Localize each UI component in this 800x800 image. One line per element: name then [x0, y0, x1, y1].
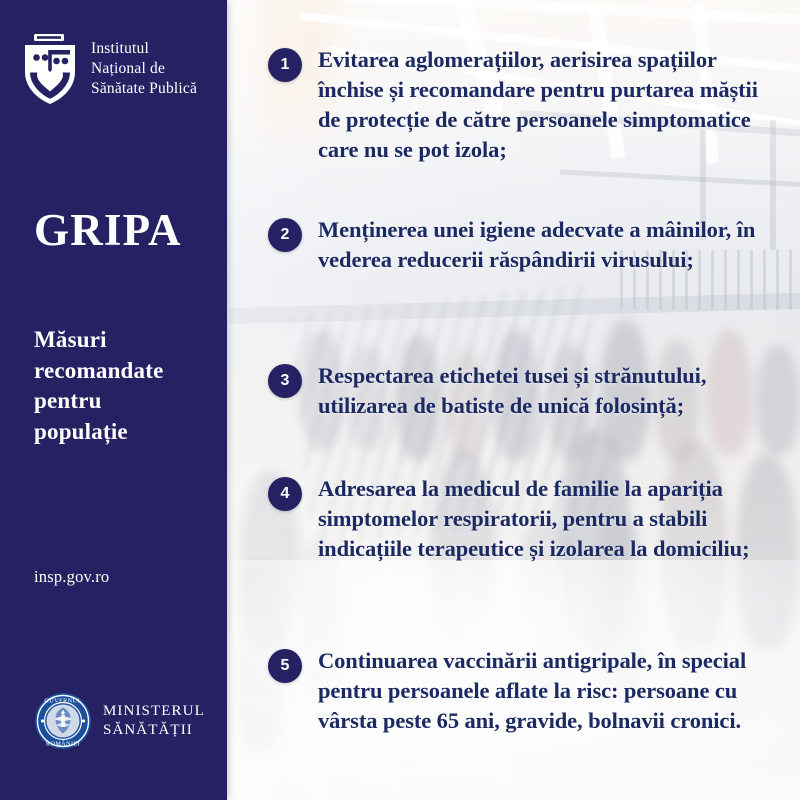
svg-text:GUVERNUL: GUVERNUL — [44, 698, 81, 705]
measure-number-badge: 1 — [268, 48, 302, 82]
measure-item: 2 Menținerea unei igiene adecvate a mâin… — [268, 215, 778, 275]
guvernul-romaniei-seal-icon: GUVERNUL ROMÂNIEI — [34, 692, 92, 750]
subtitle-line-2: recomandate — [34, 358, 164, 383]
measure-item: 5 Continuarea vaccinării antigripale, în… — [268, 646, 778, 736]
measure-number-badge: 5 — [268, 649, 302, 683]
ministry-branding: GUVERNUL ROMÂNIEI MINISTERUL SĂNĂTĂȚII — [34, 692, 205, 750]
ministry-name-line-1: MINISTERUL — [103, 703, 205, 719]
insp-shield-icon — [21, 32, 79, 106]
insp-name-line-1: Institutul — [91, 40, 149, 57]
website-url[interactable]: insp.gov.ro — [34, 567, 109, 587]
subtitle-line-4: populație — [34, 419, 128, 444]
measure-item: 4 Adresarea la medicul de familie la apa… — [268, 474, 778, 564]
measure-text: Adresarea la medicul de familie la apari… — [318, 474, 778, 564]
svg-text:ROMÂNIEI: ROMÂNIEI — [46, 740, 80, 748]
poster: Institutul Național de Sănătate Publică … — [0, 0, 800, 800]
measure-item: 1 Evitarea aglomerațiilor, aerisirea spa… — [268, 45, 778, 165]
measure-number-badge: 2 — [268, 218, 302, 252]
insp-name-line-2: Național de — [91, 60, 165, 77]
measure-number-badge: 4 — [268, 477, 302, 511]
measure-number-badge: 3 — [268, 364, 302, 398]
measure-text: Evitarea aglomerațiilor, aerisirea spați… — [318, 45, 778, 165]
subtitle-line-3: pentru — [34, 388, 102, 413]
page-title: GRIPA — [34, 208, 215, 253]
insp-name-line-3: Sănătate Publică — [91, 80, 197, 97]
page-subtitle: Măsuri recomandate pentru populație — [34, 325, 215, 447]
insp-name: Institutul Național de Sănătate Publică — [91, 39, 197, 98]
measures-list: 1 Evitarea aglomerațiilor, aerisirea spa… — [268, 0, 788, 800]
measure-text: Respectarea etichetei tusei și strănutul… — [318, 361, 778, 421]
subtitle-line-1: Măsuri — [34, 327, 107, 352]
measure-text: Continuarea vaccinării antigripale, în s… — [318, 646, 778, 736]
title-block: GRIPA Măsuri recomandate pentru populați… — [34, 208, 215, 447]
ministry-name: MINISTERUL SĂNĂTĂȚII — [103, 702, 205, 741]
ministry-name-line-2: SĂNĂTĂȚII — [103, 722, 193, 738]
insp-branding: Institutul Național de Sănătate Publică — [21, 32, 197, 106]
sidebar: Institutul Național de Sănătate Publică … — [0, 0, 227, 800]
measure-item: 3 Respectarea etichetei tusei și strănut… — [268, 361, 778, 421]
measure-text: Menținerea unei igiene adecvate a mâinil… — [318, 215, 778, 275]
